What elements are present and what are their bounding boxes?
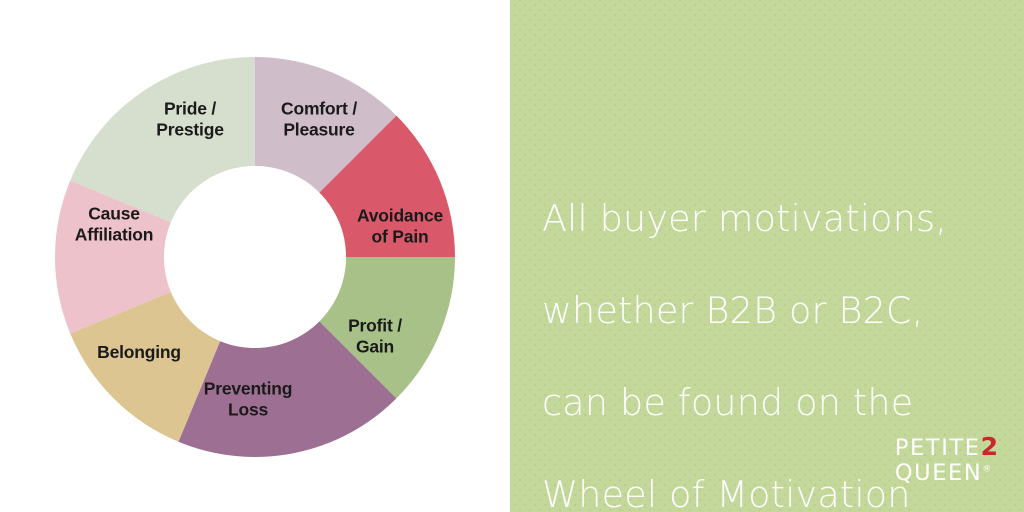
petite2queen-logo[interactable]: PETITE2 QUEEN® [895,434,998,484]
slice-label-line: Avoidance [357,205,444,225]
headline-line-3: can be found on the [542,380,1012,426]
slice-label-comfort-pleasure: Comfort /Pleasure [281,98,357,139]
slice-label-line: Belonging [97,342,181,362]
slice-label-line: Pride / [164,98,216,118]
slice-label-line: Affiliation [75,224,153,244]
slice-label-line: Comfort / [281,98,357,118]
headline-line-2: whether B2B or B2C, [542,288,1012,334]
logo-line-queen: QUEEN® [895,462,998,485]
slice-label-line: of Pain [372,226,429,246]
slice-label-line: Gain [356,336,394,356]
registered-trademark-icon: ® [982,464,991,474]
logo-accent-two: 2 [981,432,998,461]
slice-label-pride-prestige: Pride /Prestige [156,98,224,139]
slice-label-line: Profit / [348,315,402,335]
wheel-of-motivation-chart: Comfort /PleasureAvoidanceof PainProfit … [0,0,510,512]
logo-word-petite: PETITE [895,435,981,461]
slice-label-line: Preventing [204,378,292,398]
slice-label-belonging: Belonging [97,342,181,362]
slide-canvas: Comfort /PleasureAvoidanceof PainProfit … [0,0,1024,512]
donut-center-hole [164,166,346,348]
slice-label-line: Loss [228,399,269,419]
slice-label-line: Cause [88,203,140,223]
headline-panel: All buyer motivations, whether B2B or B2… [510,0,1024,512]
wheel-of-motivation-panel: Comfort /PleasureAvoidanceof PainProfit … [0,0,510,512]
logo-line-petite: PETITE2 [895,434,998,460]
headline-line-1: All buyer motivations, [542,196,1012,242]
logo-word-queen: QUEEN [895,460,982,486]
slice-label-line: Pleasure [283,119,355,139]
slice-label-line: Prestige [156,119,224,139]
